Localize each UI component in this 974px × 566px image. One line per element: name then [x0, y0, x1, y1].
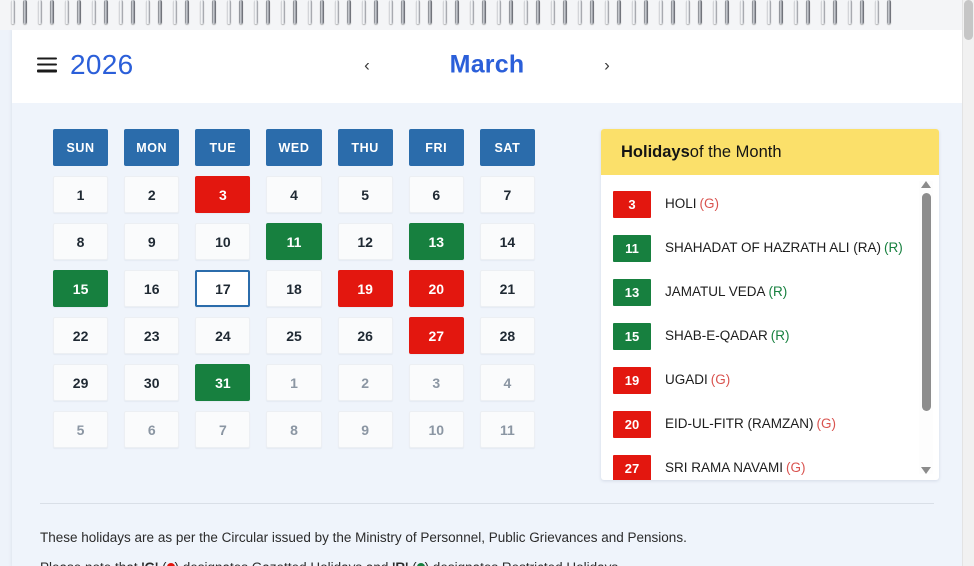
- binding-ring: [821, 0, 825, 24]
- day-cell[interactable]: 3: [195, 176, 250, 213]
- binding-ring-pair: [254, 0, 270, 26]
- binding-ring-pair: [578, 0, 594, 26]
- binding-ring: [794, 0, 798, 24]
- binding-ring: [293, 0, 297, 24]
- scrollbar-thumb[interactable]: [922, 193, 931, 411]
- binding-ring: [455, 0, 459, 24]
- binding-ring: [374, 0, 378, 24]
- weekday-header-fri[interactable]: FRI: [409, 129, 464, 166]
- day-cell[interactable]: 13: [409, 223, 464, 260]
- holiday-name-wrap: HOLI(G): [651, 195, 719, 213]
- holidays-scrollbar[interactable]: [919, 181, 933, 474]
- binding-ring: [860, 0, 864, 24]
- holiday-type-tag: (G): [711, 372, 731, 387]
- binding-ring: [590, 0, 594, 24]
- binding-ring: [200, 0, 204, 24]
- day-cell[interactable]: 28: [480, 317, 535, 354]
- footer-text-b: (: [158, 560, 166, 566]
- binding-ring-pair: [848, 0, 864, 26]
- binding-ring: [725, 0, 729, 24]
- day-cell[interactable]: 3: [409, 364, 464, 401]
- weekday-header-thu[interactable]: THU: [338, 129, 393, 166]
- binding-ring-pair: [146, 0, 162, 26]
- day-cell[interactable]: 9: [124, 223, 179, 260]
- binding-ring: [524, 0, 528, 24]
- footer-line-2: Please note that 'G' () designates Gazet…: [40, 553, 940, 566]
- binding-ring-pair: [92, 0, 108, 26]
- day-cell[interactable]: 10: [195, 223, 250, 260]
- day-cell[interactable]: 21: [480, 270, 535, 307]
- day-cell[interactable]: 1: [53, 176, 108, 213]
- footer-gazetted-code: 'G': [141, 560, 158, 566]
- holiday-type-tag: (G): [817, 416, 837, 431]
- day-cell[interactable]: 10: [409, 411, 464, 448]
- day-cell[interactable]: 22: [53, 317, 108, 354]
- binding-ring-pair: [497, 0, 513, 26]
- spiral-binding: [0, 0, 974, 30]
- binding-ring: [617, 0, 621, 24]
- footer-text-e: ) designates Restricted Holidays.: [425, 560, 622, 566]
- day-cell[interactable]: 5: [53, 411, 108, 448]
- day-cell[interactable]: 19: [338, 270, 393, 307]
- binding-ring: [740, 0, 744, 24]
- holidays-card: Holidays of the Month 3HOLI(G)11SHAHADAT…: [601, 129, 939, 480]
- week-row: 15161718192021: [53, 270, 535, 307]
- holiday-name-wrap: EID-UL-FITR (RAMZAN)(G): [651, 415, 836, 433]
- holiday-name-wrap: JAMATUL VEDA(R): [651, 283, 787, 301]
- day-cell[interactable]: 17: [195, 270, 250, 307]
- binding-ring: [497, 0, 501, 24]
- binding-ring-pair: [794, 0, 810, 26]
- binding-ring-pair: [551, 0, 567, 26]
- holiday-list-item[interactable]: 27SRI RAMA NAVAMI(G): [601, 453, 939, 480]
- binding-ring: [401, 0, 405, 24]
- holiday-name: JAMATUL VEDA: [665, 284, 766, 299]
- binding-ring-pair: [875, 0, 891, 26]
- day-cell[interactable]: 27: [409, 317, 464, 354]
- binding-ring-pair: [470, 0, 486, 26]
- weekday-header-tue[interactable]: TUE: [195, 129, 250, 166]
- binding-ring: [698, 0, 702, 24]
- calendar-header: 2026 ‹ March ›: [12, 26, 962, 103]
- binding-ring: [50, 0, 54, 24]
- binding-ring: [362, 0, 366, 24]
- binding-ring-pair: [281, 0, 297, 26]
- holiday-list-item[interactable]: 3HOLI(G): [601, 189, 939, 219]
- binding-ring: [104, 0, 108, 24]
- holiday-day-badge: 19: [613, 367, 651, 394]
- calendar-app: 2026 ‹ March › SUNMONTUEWEDTHUFRISAT 123…: [0, 0, 974, 566]
- binding-ring: [671, 0, 675, 24]
- day-cell[interactable]: 11: [266, 223, 321, 260]
- holiday-day-badge: 20: [613, 411, 651, 438]
- triangle-up-icon[interactable]: [921, 181, 931, 188]
- weekday-header-sat[interactable]: SAT: [480, 129, 535, 166]
- holiday-name-wrap: UGADI(G): [651, 371, 730, 389]
- holiday-name: EID-UL-FITR (RAMZAN): [665, 416, 814, 431]
- day-rows: 1234567891011121314151617181920212223242…: [53, 176, 535, 448]
- page-scrollbar[interactable]: [962, 0, 974, 566]
- day-cell[interactable]: 24: [195, 317, 250, 354]
- binding-ring-pair: [659, 0, 675, 26]
- binding-ring: [239, 0, 243, 24]
- holiday-name: HOLI: [665, 196, 697, 211]
- binding-ring: [254, 0, 258, 24]
- binding-ring: [833, 0, 837, 24]
- binding-ring: [335, 0, 339, 24]
- holiday-list-item[interactable]: 13JAMATUL VEDA(R): [601, 277, 939, 307]
- binding-ring-pair: [200, 0, 216, 26]
- binding-ring: [887, 0, 891, 24]
- holiday-name: SRI RAMA NAVAMI: [665, 460, 783, 475]
- binding-ring-pair: [632, 0, 648, 26]
- day-cell[interactable]: 25: [266, 317, 321, 354]
- binding-ring-pair: [713, 0, 729, 26]
- holiday-name-wrap: SRI RAMA NAVAMI(G): [651, 459, 806, 477]
- holiday-list-item[interactable]: 19UGADI(G): [601, 365, 939, 395]
- day-cell[interactable]: 20: [409, 270, 464, 307]
- triangle-down-icon[interactable]: [921, 467, 931, 474]
- holiday-day-badge: 11: [613, 235, 651, 262]
- holiday-list-item[interactable]: 15SHAB-E-QADAR(R): [601, 321, 939, 351]
- binding-ring-pair: [227, 0, 243, 26]
- day-cell[interactable]: 6: [409, 176, 464, 213]
- calendar-paper: 2026 ‹ March › SUNMONTUEWEDTHUFRISAT 123…: [12, 26, 962, 566]
- holidays-title: Holidays of the Month: [601, 129, 939, 175]
- chevron-left-icon[interactable]: ‹: [352, 56, 382, 73]
- day-cell[interactable]: 2: [124, 176, 179, 213]
- holiday-type-tag: (R): [771, 328, 790, 343]
- day-cell[interactable]: 5: [338, 176, 393, 213]
- binding-ring: [146, 0, 150, 24]
- weekday-header-mon[interactable]: MON: [124, 129, 179, 166]
- day-cell[interactable]: 26: [338, 317, 393, 354]
- binding-ring-pair: [119, 0, 135, 26]
- footer-text-c: ) designates Gazetted Holidays and: [175, 560, 393, 566]
- binding-ring: [443, 0, 447, 24]
- holiday-type-tag: (G): [786, 460, 806, 475]
- day-cell[interactable]: 8: [53, 223, 108, 260]
- day-cell[interactable]: 16: [124, 270, 179, 307]
- binding-ring-pair: [767, 0, 783, 26]
- binding-ring-pair: [821, 0, 837, 26]
- binding-ring-pair: [686, 0, 702, 26]
- day-cell[interactable]: 1: [266, 364, 321, 401]
- weekday-header-row: SUNMONTUEWEDTHUFRISAT: [53, 129, 535, 166]
- binding-ring: [173, 0, 177, 24]
- footer-divider: [40, 503, 934, 504]
- binding-ring: [212, 0, 216, 24]
- binding-ring: [509, 0, 513, 24]
- binding-ring: [563, 0, 567, 24]
- week-row: 891011121314: [53, 223, 535, 260]
- binding-ring-pair: [416, 0, 432, 26]
- weekday-header-sun[interactable]: SUN: [53, 129, 108, 166]
- day-cell[interactable]: 9: [338, 411, 393, 448]
- footer-note: These holidays are as per the Circular i…: [40, 523, 940, 566]
- weekday-header-wed[interactable]: WED: [266, 129, 321, 166]
- day-cell[interactable]: 7: [195, 411, 250, 448]
- binding-ring: [752, 0, 756, 24]
- binding-ring: [185, 0, 189, 24]
- binding-ring: [551, 0, 555, 24]
- binding-ring-pair: [605, 0, 621, 26]
- binding-ring: [848, 0, 852, 24]
- binding-ring: [281, 0, 285, 24]
- binding-ring: [632, 0, 636, 24]
- binding-ring: [131, 0, 135, 24]
- week-row: 2930311234: [53, 364, 535, 401]
- day-cell[interactable]: 31: [195, 364, 250, 401]
- binding-ring-pair: [335, 0, 351, 26]
- binding-ring: [23, 0, 27, 24]
- holiday-day-badge: 3: [613, 191, 651, 218]
- binding-ring: [536, 0, 540, 24]
- binding-ring-pair: [173, 0, 189, 26]
- binding-ring: [92, 0, 96, 24]
- binding-ring-pair: [443, 0, 459, 26]
- binding-ring: [158, 0, 162, 24]
- day-cell[interactable]: 29: [53, 364, 108, 401]
- holiday-name: SHAB-E-QADAR: [665, 328, 768, 343]
- binding-ring-pair: [38, 0, 54, 26]
- holiday-list-item[interactable]: 20EID-UL-FITR (RAMZAN)(G): [601, 409, 939, 439]
- binding-ring: [779, 0, 783, 24]
- holidays-list: 3HOLI(G)11SHAHADAT OF HAZRATH ALI (RA)(R…: [601, 175, 939, 480]
- week-row: 22232425262728: [53, 317, 535, 354]
- binding-ring: [389, 0, 393, 24]
- binding-ring: [347, 0, 351, 24]
- day-cell[interactable]: 8: [266, 411, 321, 448]
- binding-ring-pair: [740, 0, 756, 26]
- day-cell[interactable]: 30: [124, 364, 179, 401]
- binding-ring: [416, 0, 420, 24]
- day-cell[interactable]: 15: [53, 270, 108, 307]
- day-cell[interactable]: 23: [124, 317, 179, 354]
- holiday-name: SHAHADAT OF HAZRATH ALI (RA): [665, 240, 881, 255]
- holiday-list-item[interactable]: 11SHAHADAT OF HAZRATH ALI (RA)(R): [601, 233, 939, 263]
- binding-ring: [767, 0, 771, 24]
- day-cell[interactable]: 7: [480, 176, 535, 213]
- holiday-name: UGADI: [665, 372, 708, 387]
- day-cell[interactable]: 4: [266, 176, 321, 213]
- holiday-day-badge: 13: [613, 279, 651, 306]
- week-row: 567891011: [53, 411, 535, 448]
- day-cell[interactable]: 6: [124, 411, 179, 448]
- binding-ring: [686, 0, 690, 24]
- month-label: March: [382, 50, 592, 79]
- day-cell[interactable]: 4: [480, 364, 535, 401]
- holiday-type-tag: (R): [769, 284, 788, 299]
- footer-text-d: (: [408, 560, 416, 566]
- binding-ring: [65, 0, 69, 24]
- binding-ring: [482, 0, 486, 24]
- footer-text-a: Please note that: [40, 560, 141, 566]
- binding-ring: [119, 0, 123, 24]
- holidays-title-bold: Holidays: [621, 143, 690, 162]
- binding-ring: [308, 0, 312, 24]
- holiday-type-tag: (G): [700, 196, 720, 211]
- day-cell[interactable]: 11: [480, 411, 535, 448]
- holiday-type-tag: (R): [884, 240, 903, 255]
- binding-ring: [428, 0, 432, 24]
- binding-ring: [320, 0, 324, 24]
- holiday-name-wrap: SHAHADAT OF HAZRATH ALI (RA)(R): [651, 239, 903, 257]
- binding-ring: [806, 0, 810, 24]
- footer-restricted-code: 'R': [392, 560, 408, 566]
- binding-ring: [578, 0, 582, 24]
- holiday-name-wrap: SHAB-E-QADAR(R): [651, 327, 790, 345]
- binding-ring-pair: [11, 0, 27, 26]
- binding-ring-pair: [389, 0, 405, 26]
- holidays-title-rest: of the Month: [690, 143, 782, 162]
- day-cell[interactable]: 18: [266, 270, 321, 307]
- binding-ring: [11, 0, 15, 24]
- footer-line-1: These holidays are as per the Circular i…: [40, 523, 940, 553]
- page-scrollbar-thumb[interactable]: [964, 0, 973, 40]
- binding-ring: [605, 0, 609, 24]
- binding-ring: [644, 0, 648, 24]
- binding-ring: [659, 0, 663, 24]
- binding-ring: [77, 0, 81, 24]
- binding-ring: [713, 0, 717, 24]
- day-cell[interactable]: 12: [338, 223, 393, 260]
- calendar-grid: SUNMONTUEWEDTHUFRISAT 123456789101112131…: [53, 129, 535, 458]
- binding-ring: [38, 0, 42, 24]
- day-cell[interactable]: 2: [338, 364, 393, 401]
- binding-ring: [227, 0, 231, 24]
- binding-ring: [266, 0, 270, 24]
- holiday-day-badge: 27: [613, 455, 651, 481]
- binding-ring-pair: [65, 0, 81, 26]
- binding-ring-pair: [362, 0, 378, 26]
- holiday-day-badge: 15: [613, 323, 651, 350]
- month-navigation: ‹ March ›: [12, 50, 962, 79]
- day-cell[interactable]: 14: [480, 223, 535, 260]
- binding-ring-pair: [308, 0, 324, 26]
- chevron-right-icon[interactable]: ›: [592, 56, 622, 73]
- calendar-body: SUNMONTUEWEDTHUFRISAT 123456789101112131…: [12, 103, 962, 566]
- binding-ring: [470, 0, 474, 24]
- week-row: 1234567: [53, 176, 535, 213]
- binding-ring-pair: [524, 0, 540, 26]
- binding-ring: [875, 0, 879, 24]
